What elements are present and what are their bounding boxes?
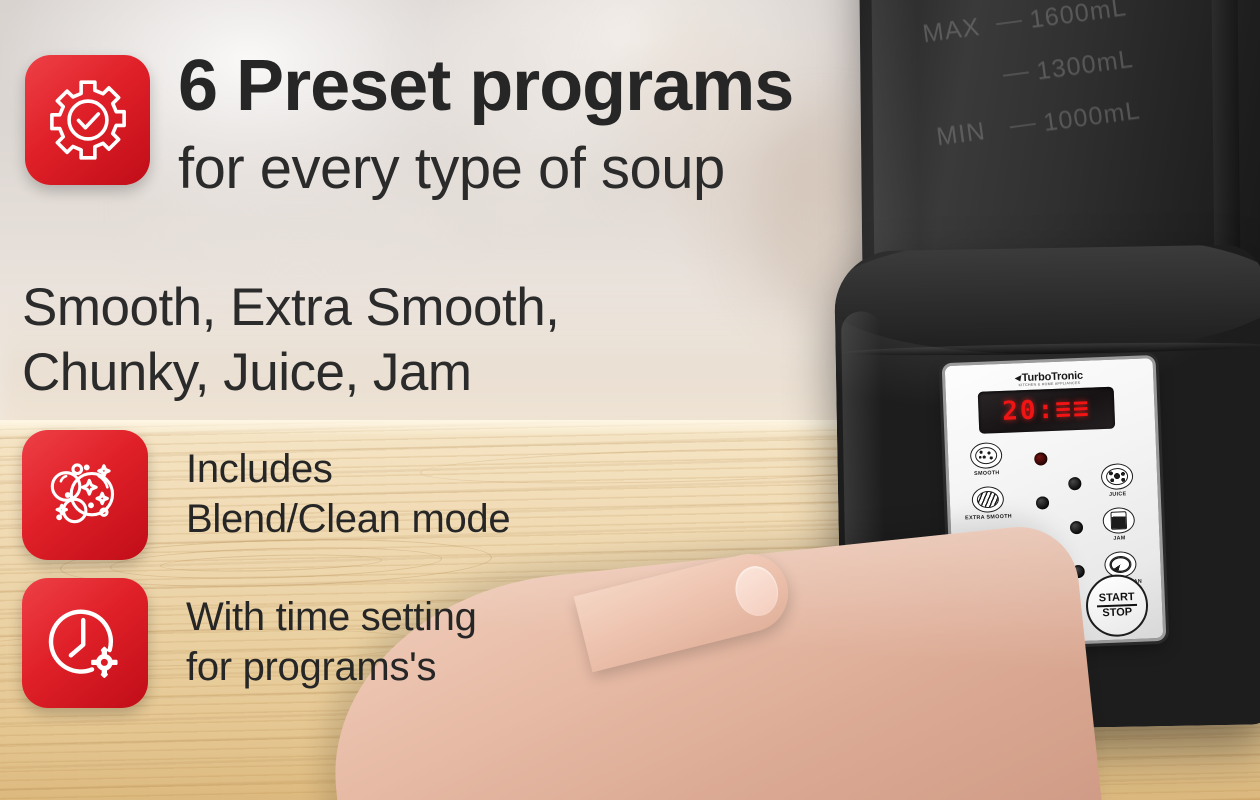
juice-icon	[1101, 463, 1134, 490]
feature-line-1: With time setting	[186, 592, 706, 642]
led-display: 20:≡≡	[978, 387, 1116, 434]
led-indicator-jam	[1070, 521, 1083, 534]
program-label: SMOOTH	[959, 469, 1015, 477]
jug-volume-markings: MAX 1600mL 1300mL MIN 1000mL	[919, 0, 1260, 163]
feature-line-2: Blend/Clean mode	[186, 494, 706, 544]
led-indicator-juice	[1068, 477, 1081, 490]
jug-mark-tag: MIN	[935, 114, 1004, 151]
blender-base-shoulder	[834, 244, 1260, 358]
fingernail	[730, 562, 783, 621]
extra-smooth-icon	[971, 486, 1004, 513]
program-button-juice[interactable]: JUICE	[1089, 462, 1147, 508]
stop-label: STOP	[1102, 607, 1132, 619]
jug-mark-value: 1300mL	[1035, 44, 1136, 86]
program-button-jam[interactable]: JAM	[1090, 506, 1148, 552]
page-title: 6 Preset programs	[178, 52, 938, 121]
feature-line-2: for programs's	[186, 642, 706, 692]
jug-mark-tag: MAX	[921, 11, 990, 48]
product-feature-banner: MAX 1600mL 1300mL MIN 1000mL ◂TurboTroni…	[0, 0, 1260, 800]
bubbles-sparkle-icon-glyph	[42, 452, 128, 538]
program-button-extra-smooth[interactable]: EXTRA SMOOTH	[959, 485, 1017, 531]
program-label: JAM	[1091, 534, 1147, 542]
program-button-smooth[interactable]: SMOOTH	[958, 442, 1016, 488]
feature-text-blend-clean: Includes Blend/Clean mode	[186, 444, 706, 545]
smooth-icon	[970, 442, 1003, 469]
feature-line-1: Includes	[186, 444, 706, 494]
led-display-value: 20:≡≡	[1002, 394, 1091, 427]
gear-check-icon-glyph	[45, 77, 131, 163]
start-label: START	[1099, 592, 1135, 604]
program-list-text: Smooth, Extra Smooth, Chunky, Juice, Jam	[22, 276, 722, 405]
clock-gear-icon	[22, 578, 148, 708]
jug-mark-dash	[996, 20, 1022, 25]
feature-text-time-setting: With time setting for programs's	[186, 592, 706, 693]
program-label: JUICE	[1090, 490, 1146, 498]
jug-mark-tag	[930, 77, 995, 86]
program-label: EXTRA SMOOTH	[960, 513, 1016, 521]
jam-icon	[1102, 507, 1135, 534]
bubbles-sparkle-icon	[22, 430, 148, 560]
program-list-line-2: Chunky, Juice, Jam	[22, 341, 722, 406]
led-indicator-smooth	[1034, 452, 1047, 465]
led-indicator-extra-smooth	[1036, 496, 1049, 509]
jug-mark-dash	[1003, 71, 1029, 76]
jug-mark-dash	[1010, 123, 1036, 128]
gear-check-icon	[25, 55, 150, 185]
jug-mark-value: 1600mL	[1028, 0, 1129, 34]
clock-gear-icon-glyph	[41, 599, 129, 687]
program-list-line-1: Smooth, Extra Smooth,	[22, 276, 722, 341]
jug-mark-value: 1000mL	[1042, 96, 1143, 138]
page-subtitle: for every type of soup	[178, 140, 938, 198]
